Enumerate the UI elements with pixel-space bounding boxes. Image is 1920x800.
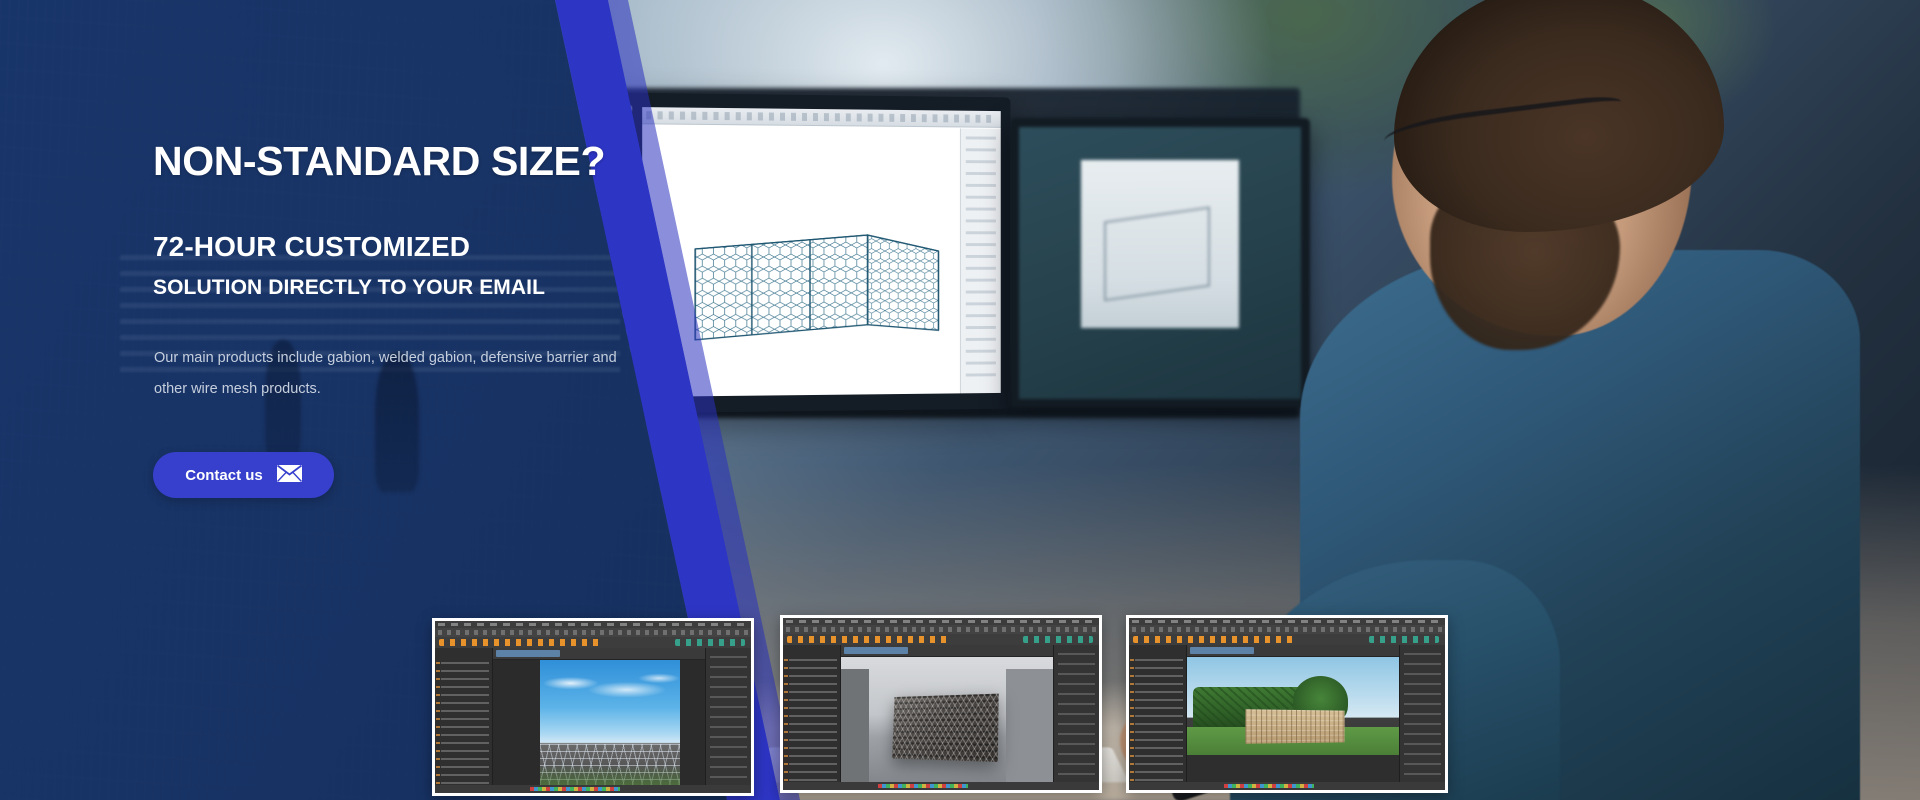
- viewport-tabbar: [1187, 645, 1399, 657]
- banner-headline: NON-STANDARD SIZE?: [153, 138, 605, 185]
- banner-subheading-line1: 72-HOUR CUSTOMIZED: [153, 231, 470, 263]
- render-gabion-fence: [1246, 709, 1345, 743]
- gabion-basket-render: [892, 693, 999, 761]
- gabion-wireframe-model: [691, 221, 948, 350]
- viewport-tabbar: [841, 645, 1053, 657]
- statusbar-color-swatches: [878, 784, 968, 788]
- toolbar-orange-icons: [787, 636, 951, 643]
- second-monitor: [1010, 118, 1310, 408]
- viewport-right-strip: [1006, 669, 1053, 782]
- viewport-garden-render: [1187, 657, 1399, 782]
- app-properties-panel: [1399, 645, 1445, 790]
- app-toolbar-row2: [1129, 634, 1445, 645]
- toolbar-teal-icons: [675, 639, 745, 646]
- app-toolbar-row2: [783, 634, 1099, 645]
- app-toolbar-row1: [1129, 625, 1445, 634]
- outliner-tree-markers: [1130, 659, 1134, 786]
- contact-us-button[interactable]: Contact us: [153, 452, 334, 498]
- banner-content: NON-STANDARD SIZE? 72-HOUR CUSTOMIZED SO…: [153, 0, 673, 800]
- contact-us-label: Contact us: [185, 467, 263, 484]
- banner-body-text: Our main products include gabion, welded…: [154, 343, 624, 405]
- outliner-tree-markers: [784, 659, 788, 786]
- viewport-left-strip: [841, 669, 869, 782]
- envelope-icon: [277, 465, 302, 486]
- properties-rows: [1058, 653, 1095, 782]
- app-statusbar: [1129, 782, 1445, 790]
- app-statusbar: [783, 782, 1099, 790]
- thumbnail-3d-software-gabion-basket[interactable]: [780, 615, 1102, 793]
- app-viewport: [841, 645, 1053, 782]
- app-viewport: [1187, 645, 1399, 782]
- outliner-rows: [1135, 659, 1183, 786]
- toolbar-teal-icons: [1023, 636, 1093, 643]
- cad-right-panel: [960, 128, 1001, 393]
- app-menubar: [1129, 618, 1445, 625]
- app-properties-panel: [1053, 645, 1099, 790]
- toolbar-orange-icons: [1133, 636, 1297, 643]
- viewport-studio-background: [841, 657, 1053, 782]
- hero-banner: NON-STANDARD SIZE? 72-HOUR CUSTOMIZED SO…: [0, 0, 1920, 800]
- viewport-dark-floor: [1187, 755, 1399, 783]
- properties-rows: [710, 656, 747, 785]
- statusbar-color-swatches: [1224, 784, 1314, 788]
- banner-subheading-line2: SOLUTION DIRECTLY TO YOUR EMAIL: [153, 276, 545, 300]
- properties-rows: [1404, 653, 1441, 782]
- outliner-rows: [789, 659, 837, 786]
- app-menubar: [783, 618, 1099, 625]
- thumbnail-3d-software-garden-render[interactable]: [1126, 615, 1448, 793]
- app-outliner-sidebar: [783, 645, 841, 790]
- app-toolbar-row1: [783, 625, 1099, 634]
- toolbar-teal-icons: [1369, 636, 1439, 643]
- app-outliner-sidebar: [1129, 645, 1187, 790]
- cad-toolbar: [642, 107, 1001, 128]
- app-properties-panel: [705, 648, 751, 793]
